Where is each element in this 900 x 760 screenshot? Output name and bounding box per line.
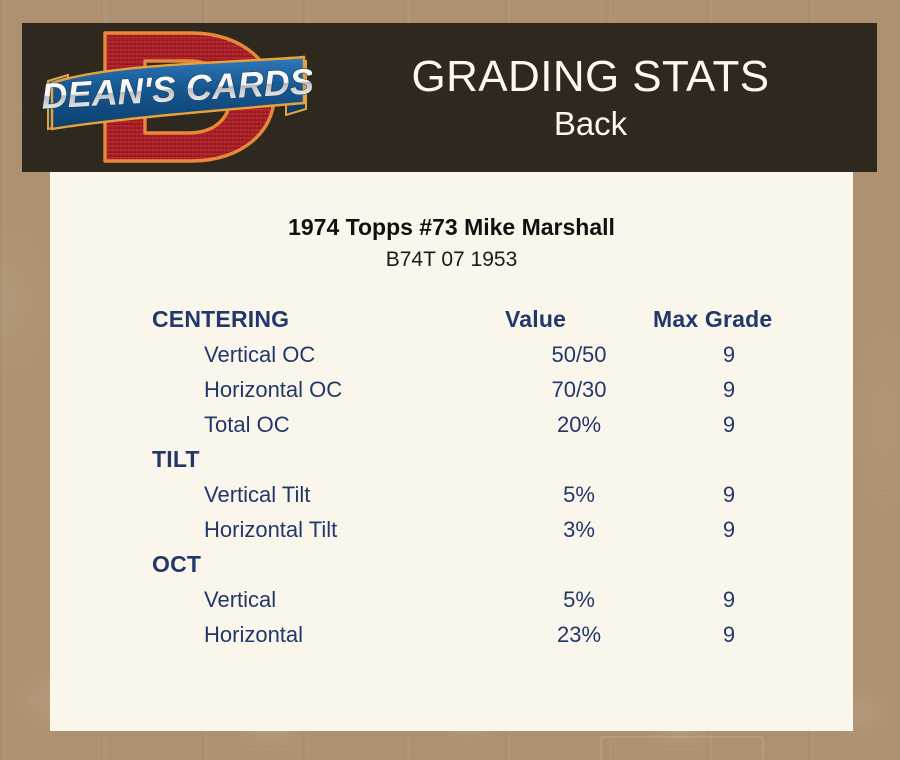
header-title-group: GRADING STATS Back <box>312 50 877 144</box>
page-subtitle: Back <box>312 104 869 144</box>
stat-max-grade: 9 <box>653 617 805 652</box>
grading-stats-table: CENTERINGValueMax GradeVertical OC50/509… <box>152 302 805 652</box>
stat-max-grade: 9 <box>653 582 805 617</box>
card-title: 1974 Topps #73 Mike Marshall <box>50 213 853 241</box>
column-header-value: Value <box>505 302 653 337</box>
table-row: Total OC20%9 <box>152 407 805 442</box>
stat-max-grade: 9 <box>653 512 805 547</box>
stat-label: Vertical <box>152 582 505 617</box>
card-identifier: B74T 07 1953 <box>50 247 853 273</box>
stat-label: Total OC <box>152 407 505 442</box>
stats-section-header: CENTERINGValueMax Grade <box>152 302 805 337</box>
stats-section-header: OCT <box>152 547 805 582</box>
stats-section-label: TILT <box>152 442 505 477</box>
stats-section-label: CENTERING <box>152 302 505 337</box>
table-row: Horizontal OC70/309 <box>152 372 805 407</box>
table-row: Horizontal23%9 <box>152 617 805 652</box>
stats-section-header: TILT <box>152 442 805 477</box>
stat-max-grade: 9 <box>653 337 805 372</box>
stats-section-spacer-grade <box>653 547 805 582</box>
stat-value: 50/50 <box>505 337 653 372</box>
page-header: DEAN'S CARDS GRADING STATS Back <box>22 23 877 172</box>
column-header-max-grade: Max Grade <box>653 302 805 337</box>
grading-stats-page: DEAN'S CARDS GRADING STATS Back 1974 Top… <box>0 0 900 760</box>
stats-section-spacer-value <box>505 547 653 582</box>
stat-value: 23% <box>505 617 653 652</box>
stat-value: 70/30 <box>505 372 653 407</box>
stat-value: 20% <box>505 407 653 442</box>
stat-value: 5% <box>505 582 653 617</box>
grading-stats-section: CENTERINGValueMax GradeVertical OC50/509… <box>50 302 853 652</box>
stat-max-grade: 9 <box>653 372 805 407</box>
content-panel: 1974 Topps #73 Mike Marshall B74T 07 195… <box>50 172 853 731</box>
deans-cards-logo-graphic: DEAN'S CARDS <box>42 25 312 170</box>
stats-section-spacer-grade <box>653 442 805 477</box>
stat-max-grade: 9 <box>653 477 805 512</box>
stat-label: Horizontal Tilt <box>152 512 505 547</box>
stat-max-grade: 9 <box>653 407 805 442</box>
stat-label: Horizontal <box>152 617 505 652</box>
stat-label: Vertical OC <box>152 337 505 372</box>
stat-label: Horizontal OC <box>152 372 505 407</box>
table-row: Horizontal Tilt3%9 <box>152 512 805 547</box>
page-title: GRADING STATS <box>312 50 869 104</box>
stat-value: 3% <box>505 512 653 547</box>
deans-cards-logo: DEAN'S CARDS <box>42 25 312 170</box>
stat-value: 5% <box>505 477 653 512</box>
table-row: Vertical5%9 <box>152 582 805 617</box>
stats-section-spacer-value <box>505 442 653 477</box>
stat-label: Vertical Tilt <box>152 477 505 512</box>
stats-section-label: OCT <box>152 547 505 582</box>
table-row: Vertical Tilt5%9 <box>152 477 805 512</box>
table-row: Vertical OC50/509 <box>152 337 805 372</box>
